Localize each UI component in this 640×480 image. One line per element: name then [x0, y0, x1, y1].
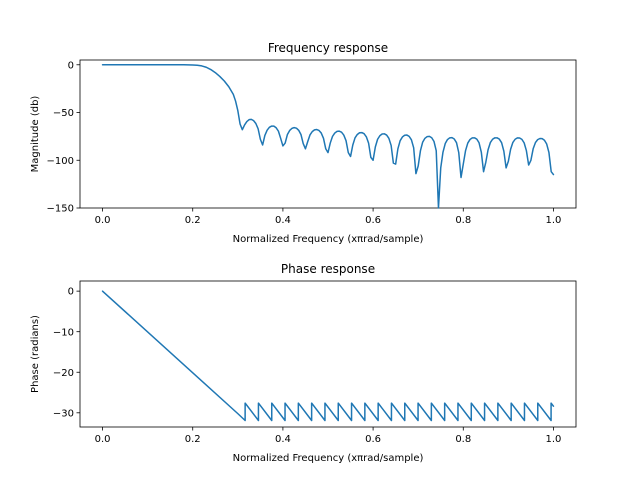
phase-curve — [103, 291, 554, 420]
plot-title: Phase response — [281, 262, 375, 276]
x-tick-label: 0.0 — [95, 434, 111, 445]
x-tick-label: 0.6 — [365, 434, 381, 445]
x-tick-label: 0.4 — [275, 215, 291, 226]
axes-phase-response: 0.00.20.40.60.81.00−10−20−30Phase respon… — [30, 262, 576, 464]
y-tick-label: −50 — [53, 108, 74, 119]
y-tick-label: 0 — [68, 287, 74, 298]
plot-title: Frequency response — [268, 41, 388, 55]
y-tick-label: −30 — [53, 408, 74, 419]
y-axis-label: Magnitude (db) — [30, 96, 41, 173]
matplotlib-figure: 0.00.20.40.60.81.00−50−100−150Frequency … — [0, 0, 640, 480]
x-tick-label: 1.0 — [546, 215, 562, 226]
y-tick-label: −100 — [47, 156, 74, 167]
x-tick-label: 0.8 — [455, 215, 471, 226]
axes-frame — [80, 281, 576, 427]
magnitude-curve — [103, 65, 554, 208]
x-tick-label: 0.2 — [185, 215, 201, 226]
x-tick-label: 1.0 — [546, 434, 562, 445]
y-tick-label: 0 — [68, 60, 74, 71]
y-tick-label: −20 — [53, 368, 74, 379]
x-axis-label: Normalized Frequency (xπrad/sample) — [233, 453, 424, 464]
x-tick-label: 0.0 — [95, 215, 111, 226]
x-tick-label: 0.8 — [455, 434, 471, 445]
y-axis-label: Phase (radians) — [30, 315, 41, 393]
x-axis-label: Normalized Frequency (xπrad/sample) — [233, 234, 424, 245]
x-tick-label: 0.6 — [365, 215, 381, 226]
y-tick-label: −150 — [47, 204, 74, 215]
figure-canvas: 0.00.20.40.60.81.00−50−100−150Frequency … — [0, 0, 640, 480]
axes-magnitude-response: 0.00.20.40.60.81.00−50−100−150Frequency … — [30, 41, 576, 245]
x-tick-label: 0.4 — [275, 434, 291, 445]
y-tick-label: −10 — [53, 327, 74, 338]
axes-frame — [80, 60, 576, 208]
x-tick-label: 0.2 — [185, 434, 201, 445]
